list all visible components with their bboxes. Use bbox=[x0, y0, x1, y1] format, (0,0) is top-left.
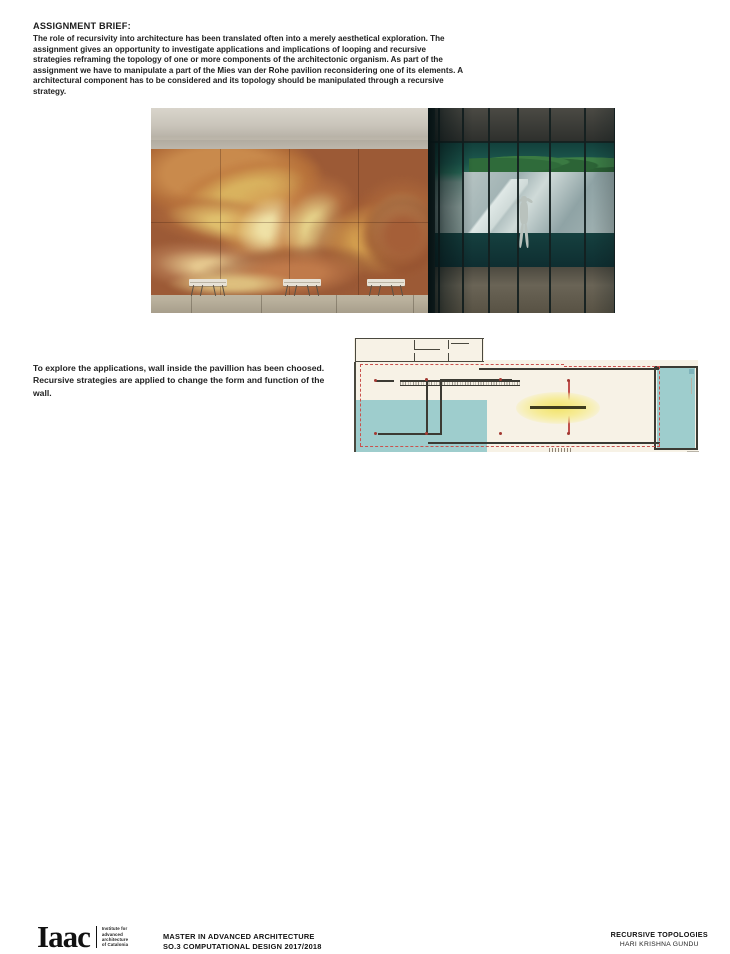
project-credits: RECURSIVE TOPOLOGIES HARI KRISHNA GUNDU bbox=[611, 930, 708, 948]
logo-divider bbox=[96, 926, 97, 948]
glass-curtain-wall bbox=[428, 108, 615, 313]
photo-content bbox=[151, 108, 615, 313]
assignment-brief: ASSIGNMENT BRIEF: The role of recursivit… bbox=[33, 21, 463, 98]
onyx-marble-wall bbox=[151, 149, 428, 295]
iaac-logo-subtitle: Institute for advanced architecture of C… bbox=[102, 926, 128, 947]
barcelona-stool bbox=[367, 279, 405, 289]
project-author: HARI KRISHNA GUNDU bbox=[611, 941, 708, 948]
program-line-1: MASTER IN ADVANCED ARCHITECTURE bbox=[163, 932, 322, 942]
plan-pool-right bbox=[657, 368, 695, 448]
brief-body: The role of recursivity into architectur… bbox=[33, 34, 463, 98]
plan-selection-boundary bbox=[360, 364, 564, 365]
exploration-caption: To explore the applications, wall inside… bbox=[33, 362, 343, 399]
plan-stair-hatch bbox=[549, 448, 573, 452]
plan-service-block bbox=[355, 338, 484, 339]
program-info: MASTER IN ADVANCED ARCHITECTURE SO.3 COM… bbox=[163, 932, 322, 952]
iaac-logo: Iaac Institute for advanced architecture… bbox=[37, 923, 128, 951]
plan-wall-segment bbox=[440, 379, 442, 435]
plan-selected-wall bbox=[530, 406, 586, 409]
program-line-2: SO.3 COMPUTATIONAL DESIGN 2017/2018 bbox=[163, 942, 322, 952]
plan-pool-left bbox=[355, 400, 487, 452]
board-footer: Iaac Institute for advanced architecture… bbox=[0, 460, 730, 516]
barcelona-stool bbox=[283, 279, 321, 289]
pavilion-photo bbox=[151, 108, 615, 313]
plan-wall-segment bbox=[426, 379, 428, 435]
iaac-logo-mark: Iaac bbox=[37, 923, 90, 951]
plan-wall-segment bbox=[378, 433, 442, 435]
pavilion-floor-plan bbox=[352, 338, 700, 452]
presentation-board: ASSIGNMENT BRIEF: The role of recursivit… bbox=[0, 0, 730, 516]
project-title: RECURSIVE TOPOLOGIES bbox=[611, 930, 708, 939]
plan-wall-segment bbox=[376, 380, 394, 382]
brief-title: ASSIGNMENT BRIEF: bbox=[33, 21, 463, 31]
barcelona-stool bbox=[189, 279, 227, 289]
